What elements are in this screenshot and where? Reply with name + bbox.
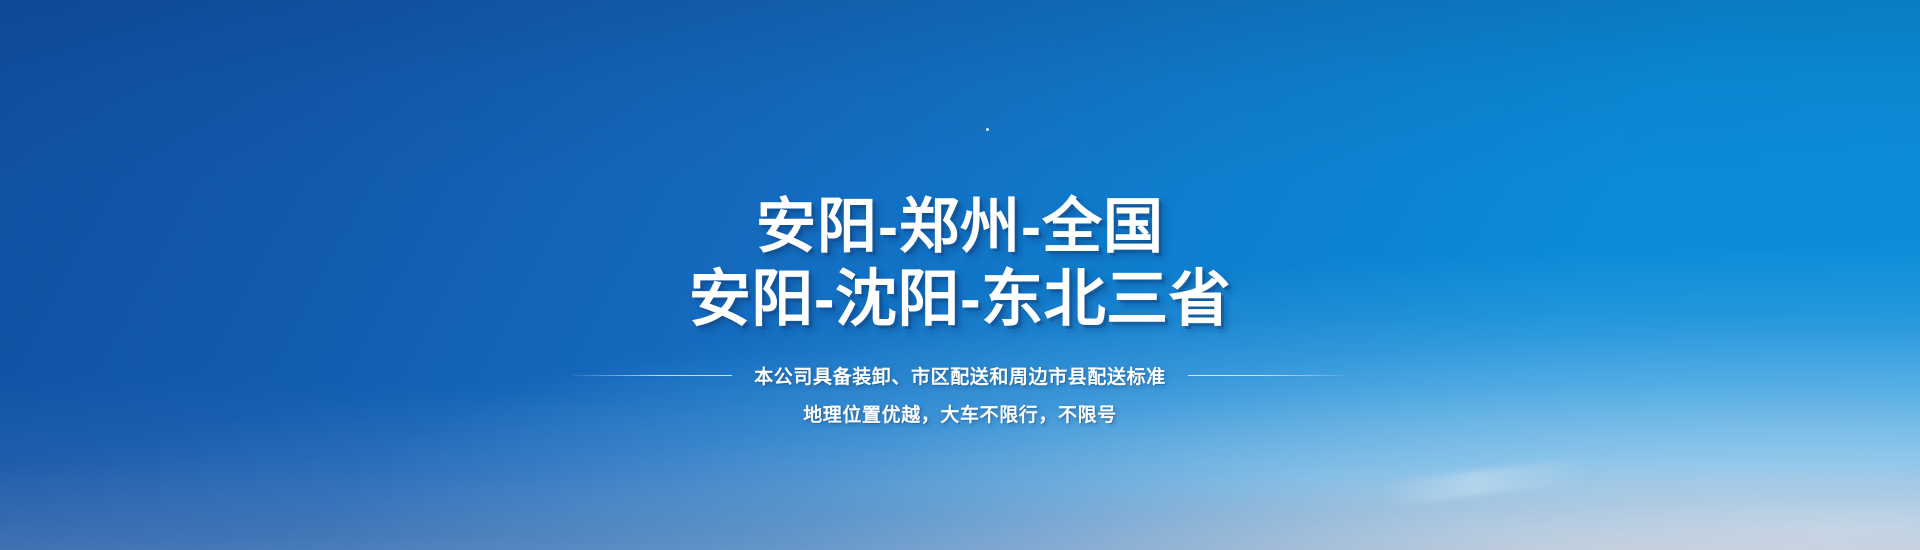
banner-subtitle-block: 本公司具备装卸、市区配送和周边市县配送标准 地理位置优越，大车不限行，不限号	[572, 362, 1348, 427]
divider-rule-right	[1188, 375, 1348, 376]
subtitle-line-1: 本公司具备装卸、市区配送和周边市县配送标准	[754, 362, 1166, 389]
banner-content: 安阳-郑州-全国 安阳-沈阳-东北三省 本公司具备装卸、市区配送和周边市县配送标…	[0, 0, 1920, 550]
divider-rule-left	[572, 375, 732, 376]
promo-banner: 安阳-郑州-全国 安阳-沈阳-东北三省 本公司具备装卸、市区配送和周边市县配送标…	[0, 0, 1920, 550]
banner-headline: 安阳-郑州-全国 安阳-沈阳-东北三省	[689, 192, 1231, 336]
headline-line-1: 安阳-郑州-全国	[689, 192, 1231, 263]
subtitle-row-1: 本公司具备装卸、市区配送和周边市县配送标准	[572, 362, 1348, 389]
subtitle-line-2: 地理位置优越，大车不限行，不限号	[803, 400, 1117, 427]
headline-line-2: 安阳-沈阳-东北三省	[689, 263, 1231, 336]
